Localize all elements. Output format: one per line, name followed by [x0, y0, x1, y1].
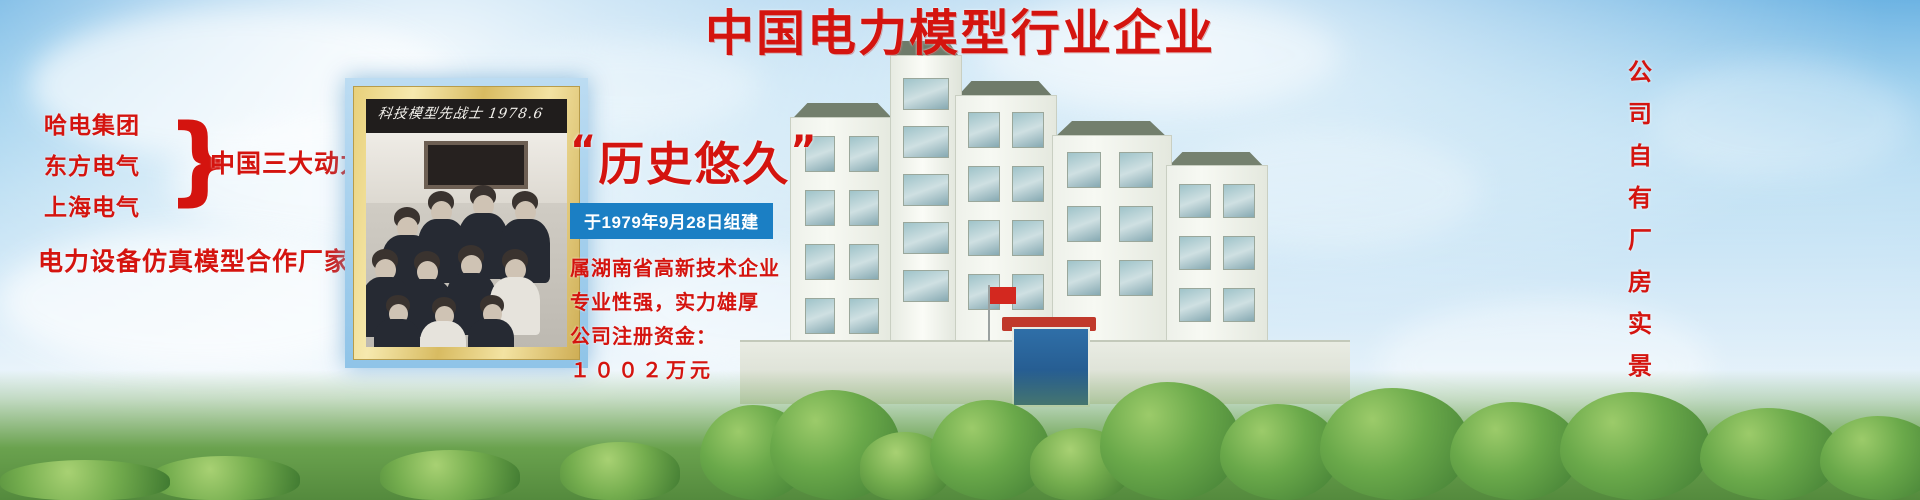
- vertical-char-6: 房: [1620, 262, 1660, 304]
- promo-banner: 中国电力模型行业企业 哈电集团 东方电气 上海电气 } 中国三大动力 电力设备仿…: [0, 0, 1920, 500]
- cloud-decoration: [1650, 60, 1910, 180]
- company-description: 属湖南省高新技术企业 专业性强，实力雄厚 公司注册资金： １００２万元: [570, 252, 800, 388]
- founded-date-badge: 于1979年9月28日组建: [570, 203, 773, 239]
- description-line-3: 公司注册资金：: [570, 320, 800, 354]
- left-text-block: 哈电集团 东方电气 上海电气 } 中国三大动力 电力设备仿真模型合作厂家: [38, 105, 378, 278]
- partner-tagline: 电力设备仿真模型合作厂家: [38, 242, 378, 278]
- factory-building-image: [780, 55, 1300, 385]
- history-quote: “历史悠久”: [570, 128, 800, 194]
- vertical-char-2: 司: [1620, 94, 1660, 136]
- company-name-1: 哈电集团: [44, 105, 162, 146]
- gold-frame-border: 科技模型先战士 1978.6: [353, 86, 580, 360]
- building-wing: [1166, 165, 1268, 357]
- vertical-caption: 公 司 自 有 厂 房 实 景: [1620, 52, 1660, 388]
- vertical-char-3: 自: [1620, 136, 1660, 178]
- description-line-2: 专业性强，实力雄厚: [570, 286, 800, 320]
- company-name-list: 哈电集团 东方电气 上海电气: [44, 105, 162, 228]
- chalkboard-shape: [424, 141, 528, 189]
- three-powers-group: 哈电集团 东方电气 上海电气 } 中国三大动力: [38, 105, 378, 230]
- tree: [1320, 388, 1470, 500]
- shrub: [380, 450, 520, 500]
- vertical-char-7: 实: [1620, 304, 1660, 346]
- description-line-1: 属湖南省高新技术企业: [570, 252, 800, 286]
- building-tower: [890, 55, 962, 357]
- flag-icon: [990, 287, 1016, 304]
- vertical-char-4: 有: [1620, 178, 1660, 220]
- registered-capital-value: １００２万元: [570, 354, 800, 388]
- vertical-char-8: 景: [1620, 346, 1660, 388]
- three-powers-label: 中国三大动力: [210, 144, 366, 180]
- company-name-2: 东方电气: [44, 146, 162, 187]
- quote-open-mark: “: [570, 128, 598, 174]
- tree: [930, 400, 1050, 500]
- vertical-char-1: 公: [1620, 52, 1660, 94]
- photo-caption: 科技模型先战士 1978.6: [377, 103, 545, 123]
- quote-close-mark: ”: [790, 128, 818, 174]
- tree: [1560, 392, 1710, 500]
- center-text-block: “历史悠久” 于1979年9月28日组建 属湖南省高新技术企业 专业性强，实力雄…: [570, 128, 800, 388]
- shrub: [150, 456, 300, 500]
- tree: [1100, 382, 1240, 500]
- vertical-char-5: 厂: [1620, 220, 1660, 262]
- company-name-3: 上海电气: [44, 187, 162, 228]
- historical-photo-frame: 科技模型先战士 1978.6: [345, 78, 588, 368]
- group-photo: 科技模型先战士 1978.6: [366, 99, 567, 347]
- quote-text: 历史悠久: [598, 137, 790, 191]
- shrub: [0, 460, 170, 500]
- shrub: [560, 442, 680, 500]
- tree: [1700, 408, 1840, 500]
